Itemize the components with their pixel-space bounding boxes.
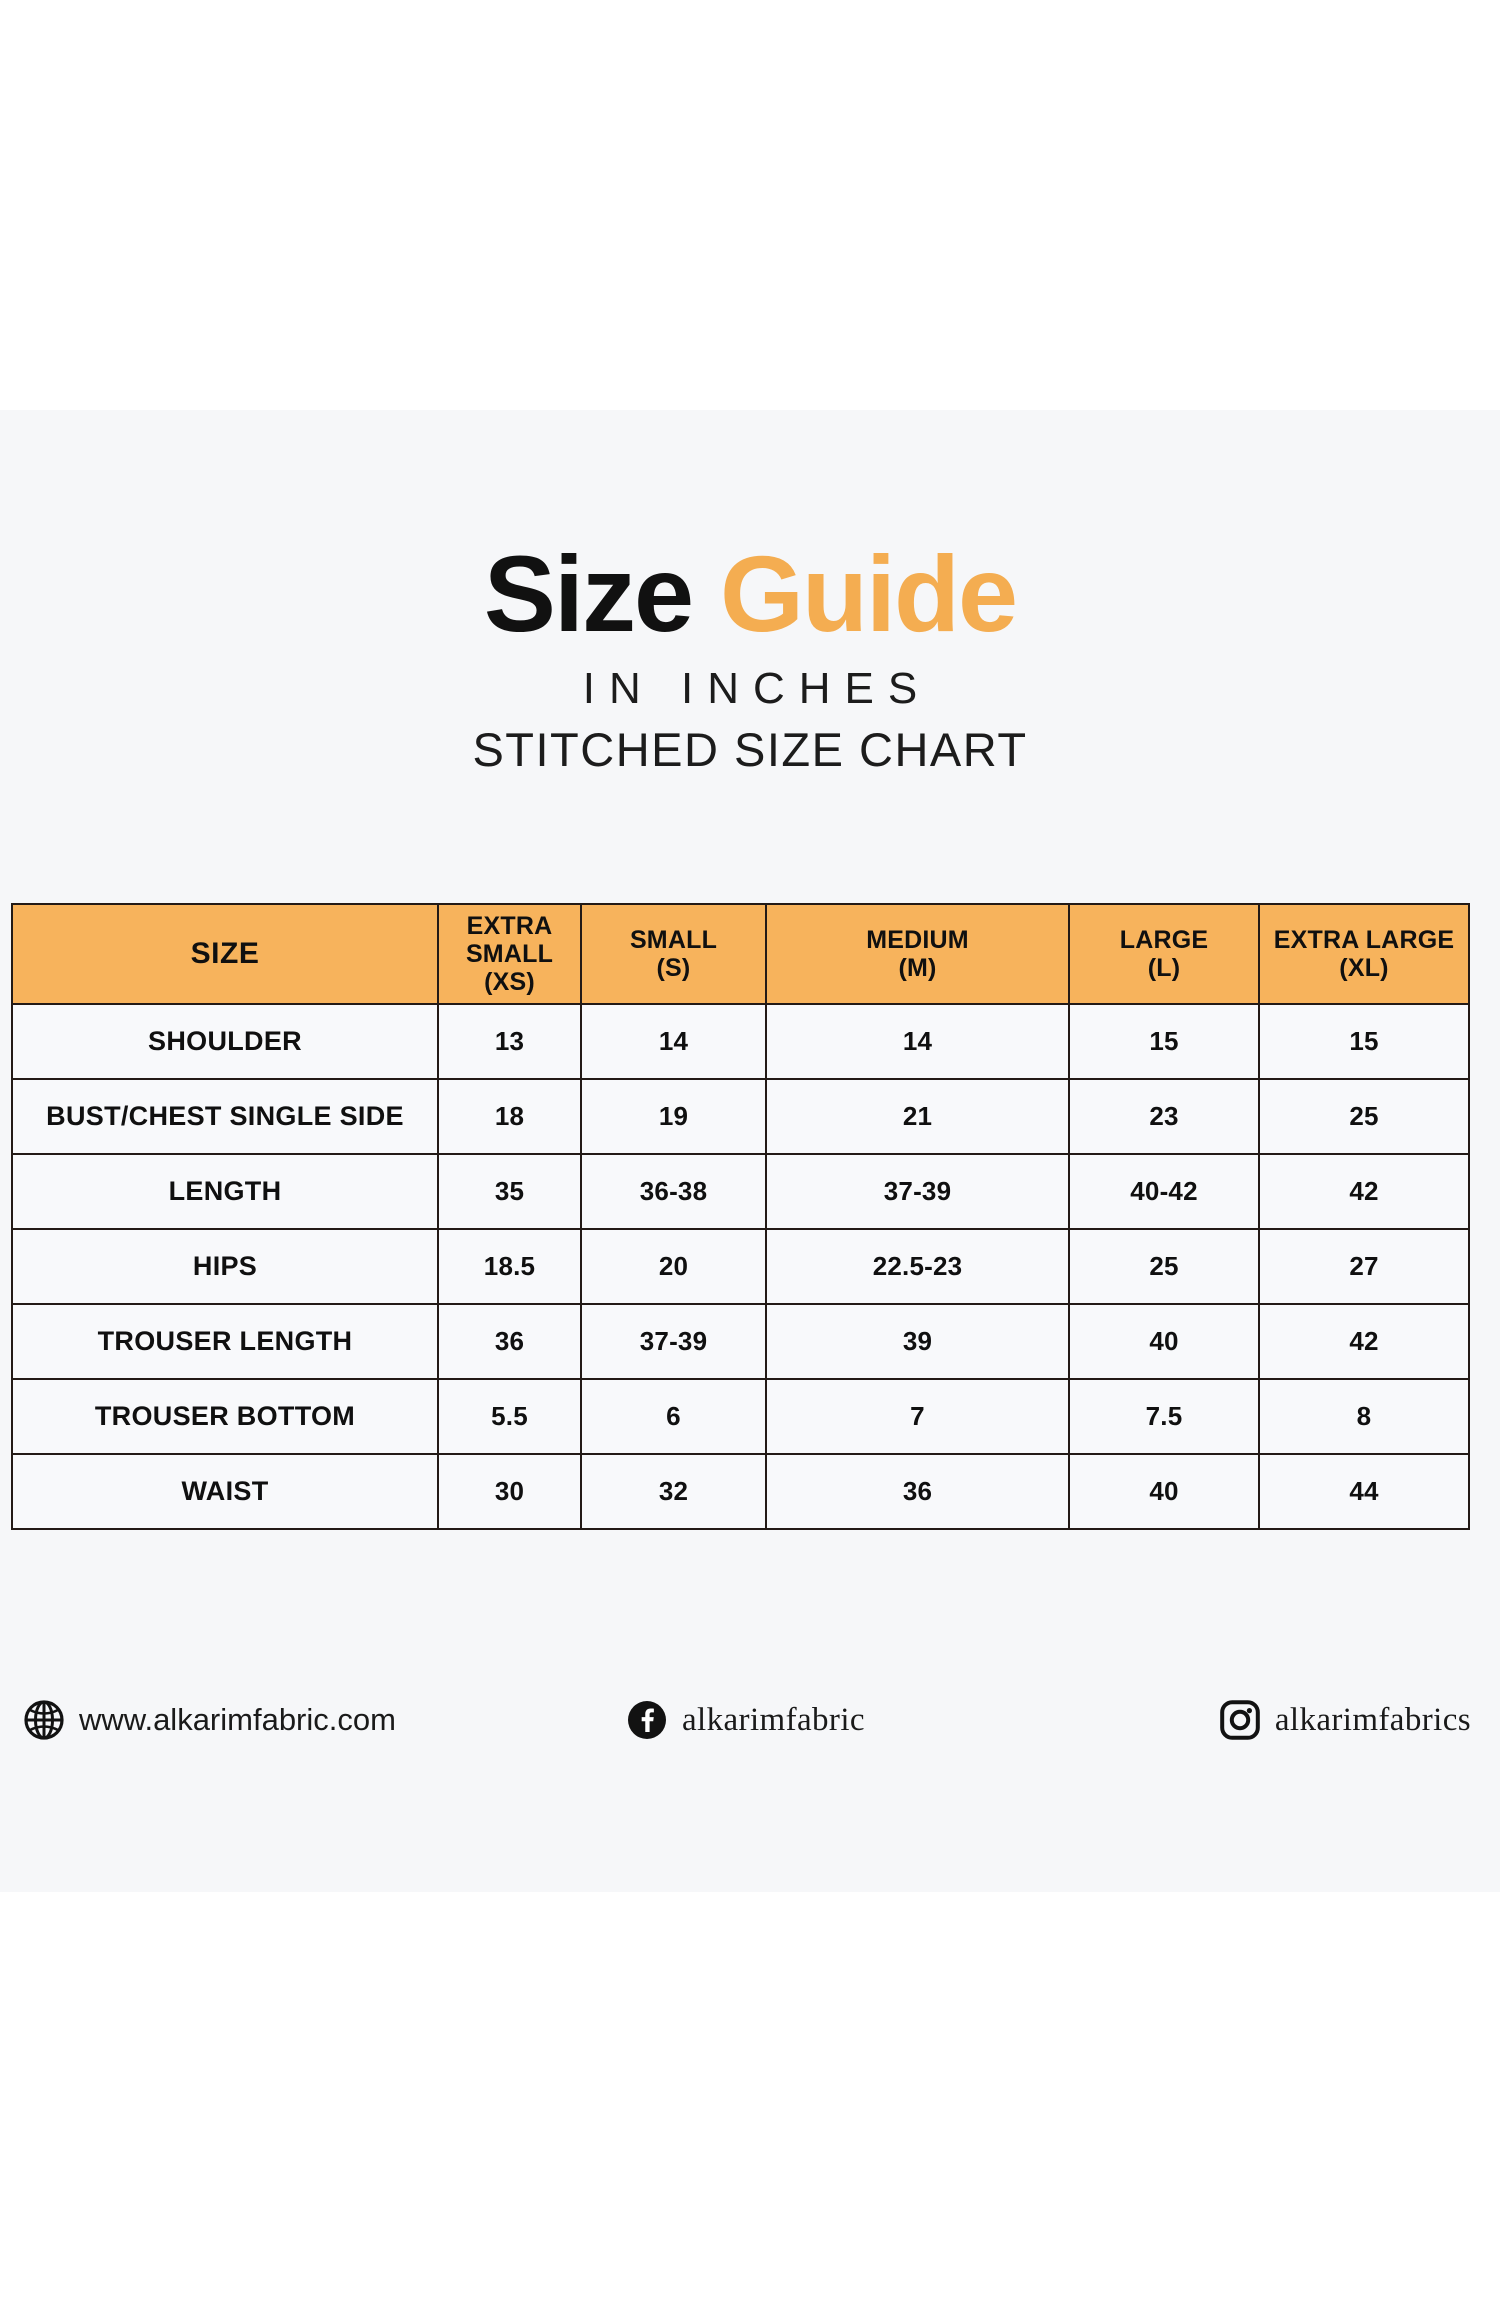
column-header-l-line1: LARGE xyxy=(1070,926,1258,954)
page-title-black: Size xyxy=(484,533,692,654)
cell-xs: 35 xyxy=(438,1154,581,1229)
table-body: SHOULDER 13 14 14 15 15 BUST/CHEST SINGL… xyxy=(12,1004,1469,1529)
table-header: SIZE EXTRA SMALL (XS) SMALL (S) MEDIUM (… xyxy=(12,904,1469,1004)
cell-xl: 42 xyxy=(1259,1304,1469,1379)
column-header-xs: EXTRA SMALL (XS) xyxy=(438,904,581,1004)
row-label: WAIST xyxy=(12,1454,438,1529)
footer-facebook[interactable]: alkarimfabric xyxy=(626,1699,865,1741)
footer-website[interactable]: www.alkarimfabric.com xyxy=(23,1699,396,1741)
cell-s: 32 xyxy=(581,1454,766,1529)
cell-l: 40 xyxy=(1069,1454,1259,1529)
website-label: www.alkarimfabric.com xyxy=(79,1702,396,1738)
row-label: BUST/CHEST SINGLE SIDE xyxy=(12,1079,438,1154)
cell-l: 23 xyxy=(1069,1079,1259,1154)
subtitle-units: IN INCHES xyxy=(0,664,1500,715)
cell-xs: 18.5 xyxy=(438,1229,581,1304)
subtitle-chart: STITCHED SIZE CHART xyxy=(0,723,1500,777)
cell-xs: 30 xyxy=(438,1454,581,1529)
column-header-xl-line2: (XL) xyxy=(1260,954,1468,982)
cell-xl: 27 xyxy=(1259,1229,1469,1304)
instagram-icon xyxy=(1219,1699,1261,1741)
cell-l: 40-42 xyxy=(1069,1154,1259,1229)
cell-xl: 25 xyxy=(1259,1079,1469,1154)
footer-instagram[interactable]: alkarimfabrics xyxy=(1219,1699,1471,1741)
column-header-m-line1: MEDIUM xyxy=(767,926,1068,954)
cell-m: 7 xyxy=(766,1379,1069,1454)
cell-l: 15 xyxy=(1069,1004,1259,1079)
table-row: TROUSER BOTTOM 5.5 6 7 7.5 8 xyxy=(12,1379,1469,1454)
column-header-l: LARGE (L) xyxy=(1069,904,1259,1004)
column-header-xl: EXTRA LARGE (XL) xyxy=(1259,904,1469,1004)
cell-xl: 8 xyxy=(1259,1379,1469,1454)
cell-s: 6 xyxy=(581,1379,766,1454)
column-header-s-line1: SMALL xyxy=(582,926,765,954)
page-title-accent: Guide xyxy=(692,533,1016,654)
column-header-size-line1: SIZE xyxy=(13,937,437,971)
cell-m: 39 xyxy=(766,1304,1069,1379)
column-header-size: SIZE xyxy=(12,904,438,1004)
column-header-l-line2: (L) xyxy=(1070,954,1258,982)
cell-xs: 13 xyxy=(438,1004,581,1079)
cell-s: 14 xyxy=(581,1004,766,1079)
cell-l: 40 xyxy=(1069,1304,1259,1379)
cell-m: 21 xyxy=(766,1079,1069,1154)
cell-l: 7.5 xyxy=(1069,1379,1259,1454)
cell-m: 37-39 xyxy=(766,1154,1069,1229)
table-row: TROUSER LENGTH 36 37-39 39 40 42 xyxy=(12,1304,1469,1379)
cell-xl: 42 xyxy=(1259,1154,1469,1229)
cell-xs: 18 xyxy=(438,1079,581,1154)
column-header-xs-line1: EXTRA xyxy=(439,912,580,940)
globe-icon xyxy=(23,1699,65,1741)
table-row: LENGTH 35 36-38 37-39 40-42 42 xyxy=(12,1154,1469,1229)
cell-xs: 5.5 xyxy=(438,1379,581,1454)
facebook-label: alkarimfabric xyxy=(682,1702,865,1739)
cell-m: 36 xyxy=(766,1454,1069,1529)
size-chart-table: SIZE EXTRA SMALL (XS) SMALL (S) MEDIUM (… xyxy=(11,903,1470,1530)
cell-xl: 44 xyxy=(1259,1454,1469,1529)
row-label: TROUSER LENGTH xyxy=(12,1304,438,1379)
column-header-m: MEDIUM (M) xyxy=(766,904,1069,1004)
row-label: HIPS xyxy=(12,1229,438,1304)
row-label: TROUSER BOTTOM xyxy=(12,1379,438,1454)
table-header-row: SIZE EXTRA SMALL (XS) SMALL (S) MEDIUM (… xyxy=(12,904,1469,1004)
table-row: BUST/CHEST SINGLE SIDE 18 19 21 23 25 xyxy=(12,1079,1469,1154)
footer: www.alkarimfabric.com alkarimfabric alka… xyxy=(11,1672,1479,1768)
cell-l: 25 xyxy=(1069,1229,1259,1304)
row-label: LENGTH xyxy=(12,1154,438,1229)
column-header-s: SMALL (S) xyxy=(581,904,766,1004)
column-header-s-line2: (S) xyxy=(582,954,765,982)
page-title: Size Guide xyxy=(0,540,1500,648)
table-row: HIPS 18.5 20 22.5-23 25 27 xyxy=(12,1229,1469,1304)
cell-m: 14 xyxy=(766,1004,1069,1079)
cell-s: 37-39 xyxy=(581,1304,766,1379)
size-guide-page: Size Guide IN INCHES STITCHED SIZE CHART… xyxy=(0,0,1500,2300)
title-block: Size Guide IN INCHES STITCHED SIZE CHART xyxy=(0,540,1500,777)
row-label: SHOULDER xyxy=(12,1004,438,1079)
facebook-icon xyxy=(626,1699,668,1741)
cell-xl: 15 xyxy=(1259,1004,1469,1079)
column-header-m-line2: (M) xyxy=(767,954,1068,982)
cell-s: 19 xyxy=(581,1079,766,1154)
table-row: WAIST 30 32 36 40 44 xyxy=(12,1454,1469,1529)
column-header-xl-line1: EXTRA LARGE xyxy=(1260,926,1468,954)
cell-s: 20 xyxy=(581,1229,766,1304)
table-row: SHOULDER 13 14 14 15 15 xyxy=(12,1004,1469,1079)
cell-s: 36-38 xyxy=(581,1154,766,1229)
cell-m: 22.5-23 xyxy=(766,1229,1069,1304)
cell-xs: 36 xyxy=(438,1304,581,1379)
instagram-label: alkarimfabrics xyxy=(1275,1702,1471,1739)
column-header-xs-line2: SMALL (XS) xyxy=(439,940,580,996)
